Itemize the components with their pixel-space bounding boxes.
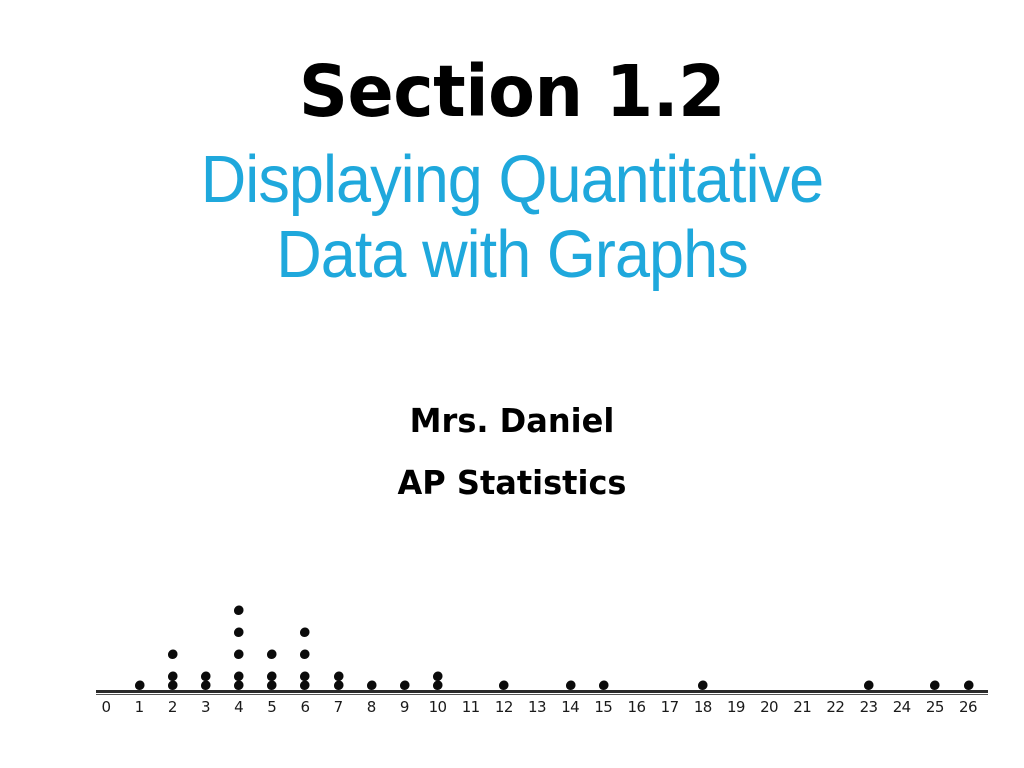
- data-dot: [367, 681, 376, 690]
- x-tick-label: 8: [367, 698, 376, 716]
- data-dot: [300, 650, 309, 659]
- x-tick-label: 15: [594, 698, 612, 716]
- x-tick-label: 4: [234, 698, 243, 716]
- subtitle-line-1: Displaying Quantitative: [72, 142, 952, 217]
- x-tick-label: 9: [400, 698, 409, 716]
- data-dot: [267, 681, 276, 690]
- dotplot-tick-labels: 0123456789101112131415161718192021222324…: [96, 698, 988, 720]
- data-dot: [864, 681, 873, 690]
- dot-stack: [565, 681, 575, 690]
- x-tick-label: 10: [429, 698, 447, 716]
- dotplot-plot-area: [96, 548, 988, 690]
- x-tick-label: 5: [267, 698, 276, 716]
- data-dot: [300, 681, 309, 690]
- data-dot: [566, 681, 575, 690]
- data-dot: [234, 606, 243, 615]
- x-tick-label: 11: [462, 698, 480, 716]
- dotplot-figure: 0123456789101112131415161718192021222324…: [96, 548, 988, 720]
- dot-stack: [234, 593, 244, 690]
- x-tick-label: 6: [300, 698, 309, 716]
- data-dot: [698, 681, 707, 690]
- dotplot-x-axis: [96, 690, 988, 696]
- data-dot: [135, 681, 144, 690]
- dot-stack: [930, 681, 940, 690]
- data-dot: [201, 681, 210, 690]
- x-tick-label: 2: [168, 698, 177, 716]
- x-tick-label: 0: [102, 698, 111, 716]
- dot-stack: [963, 681, 973, 690]
- x-tick-label: 21: [793, 698, 811, 716]
- data-dot: [964, 681, 973, 690]
- x-tick-label: 26: [959, 698, 977, 716]
- byline-block: Mrs. Daniel AP Statistics: [0, 404, 1024, 499]
- data-dot: [433, 681, 442, 690]
- axis-rule-secondary: [96, 694, 988, 695]
- slide-subtitle: Displaying Quantitative Data with Graphs: [31, 142, 994, 292]
- dot-stack: [267, 637, 277, 690]
- data-dot: [433, 672, 442, 681]
- x-tick-label: 16: [628, 698, 646, 716]
- x-tick-label: 1: [135, 698, 144, 716]
- data-dot: [201, 672, 210, 681]
- x-tick-label: 17: [661, 698, 679, 716]
- dot-stack: [433, 659, 443, 690]
- dot-stack: [300, 615, 310, 690]
- dot-stack: [399, 681, 409, 690]
- data-dot: [499, 681, 508, 690]
- data-dot: [334, 672, 343, 681]
- data-dot: [234, 672, 243, 681]
- data-dot: [234, 650, 243, 659]
- data-dot: [168, 681, 177, 690]
- data-dot: [234, 628, 243, 637]
- title-block: Section 1.2 Displaying Quantitative Data…: [0, 56, 1024, 292]
- dot-stack: [200, 659, 210, 690]
- x-tick-label: 22: [826, 698, 844, 716]
- data-dot: [300, 672, 309, 681]
- x-tick-label: 23: [860, 698, 878, 716]
- dot-stack: [366, 681, 376, 690]
- x-tick-label: 24: [893, 698, 911, 716]
- dot-stack: [333, 659, 343, 690]
- dot-stack: [698, 681, 708, 690]
- data-dot: [334, 681, 343, 690]
- x-tick-label: 19: [727, 698, 745, 716]
- page-title: Section 1.2: [20, 56, 1003, 128]
- x-tick-label: 18: [694, 698, 712, 716]
- data-dot: [267, 672, 276, 681]
- x-tick-label: 25: [926, 698, 944, 716]
- data-dot: [168, 650, 177, 659]
- x-tick-label: 20: [760, 698, 778, 716]
- axis-rule-primary: [96, 690, 988, 693]
- dot-stack: [167, 637, 177, 690]
- data-dot: [930, 681, 939, 690]
- x-tick-label: 7: [334, 698, 343, 716]
- data-dot: [267, 650, 276, 659]
- data-dot: [168, 672, 177, 681]
- slide-canvas: Section 1.2 Displaying Quantitative Data…: [0, 0, 1024, 768]
- data-dot: [300, 628, 309, 637]
- data-dot: [400, 681, 409, 690]
- subtitle-line-2: Data with Graphs: [72, 217, 952, 292]
- dot-stack: [598, 681, 608, 690]
- data-dot: [599, 681, 608, 690]
- byline-author: Mrs. Daniel: [15, 404, 1008, 437]
- x-tick-label: 12: [495, 698, 513, 716]
- x-tick-label: 13: [528, 698, 546, 716]
- dot-stack: [499, 681, 509, 690]
- data-dot: [234, 681, 243, 690]
- dot-stack: [864, 681, 874, 690]
- byline-course: AP Statistics: [15, 466, 1008, 499]
- dot-stack: [134, 681, 144, 690]
- x-tick-label: 14: [561, 698, 579, 716]
- x-tick-label: 3: [201, 698, 210, 716]
